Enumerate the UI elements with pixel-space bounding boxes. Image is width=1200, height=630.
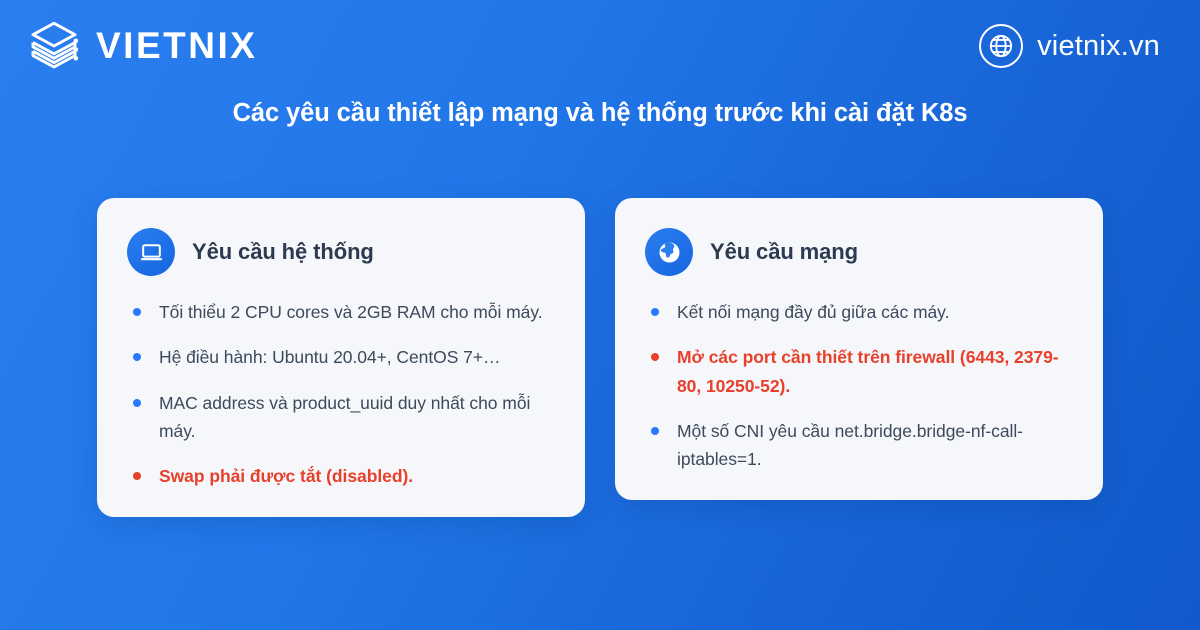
bullet-dot-icon xyxy=(133,308,141,316)
list-item-text: Swap phải được tắt (disabled). xyxy=(159,462,413,490)
card-title: Yêu cầu mạng xyxy=(710,239,858,265)
list-item: Kết nối mạng đầy đủ giữa các máy. xyxy=(645,298,1073,326)
bullet-dot-icon xyxy=(651,353,659,361)
card-network-requirements: Yêu cầu mạng Kết nối mạng đầy đủ giữa cá… xyxy=(615,198,1103,500)
list-item-text: Tối thiểu 2 CPU cores và 2GB RAM cho mỗi… xyxy=(159,298,543,326)
globe-earth-icon xyxy=(645,228,693,276)
list-item: Hệ điều hành: Ubuntu 20.04+, CentOS 7+… xyxy=(127,343,555,371)
list-item-text: MAC address và product_uuid duy nhất cho… xyxy=(159,389,555,446)
list-item-text: Kết nối mạng đầy đủ giữa các máy. xyxy=(677,298,949,326)
card-title: Yêu cầu hệ thống xyxy=(192,239,374,265)
card-header: Yêu cầu mạng xyxy=(645,228,1073,276)
card-header: Yêu cầu hệ thống xyxy=(127,228,555,276)
list-item-text: Hệ điều hành: Ubuntu 20.04+, CentOS 7+… xyxy=(159,343,500,371)
bullet-dot-icon xyxy=(651,308,659,316)
list-item-text: Một số CNI yêu cầu net.bridge.bridge-nf-… xyxy=(677,417,1073,474)
list-item-text: Mở các port cần thiết trên firewall (644… xyxy=(677,343,1073,400)
list-item: Tối thiểu 2 CPU cores và 2GB RAM cho mỗi… xyxy=(127,298,555,326)
list-item: MAC address và product_uuid duy nhất cho… xyxy=(127,389,555,446)
laptop-icon xyxy=(127,228,175,276)
requirements-list: Tối thiểu 2 CPU cores và 2GB RAM cho mỗi… xyxy=(127,298,555,491)
list-item: Một số CNI yêu cầu net.bridge.bridge-nf-… xyxy=(645,417,1073,474)
card-system-requirements: Yêu cầu hệ thống Tối thiểu 2 CPU cores v… xyxy=(97,198,585,517)
site-url-text: vietnix.vn xyxy=(1037,30,1160,63)
stacked-layers-logo-icon xyxy=(26,18,82,74)
list-item-highlighted: Mở các port cần thiết trên firewall (644… xyxy=(645,343,1073,400)
site-url-lockup: vietnix.vn xyxy=(979,24,1160,68)
list-item-highlighted: Swap phải được tắt (disabled). xyxy=(127,462,555,490)
brand-lockup: VIETNIX xyxy=(26,18,257,74)
requirements-list: Kết nối mạng đầy đủ giữa các máy. Mở các… xyxy=(645,298,1073,474)
cards-container: Yêu cầu hệ thống Tối thiểu 2 CPU cores v… xyxy=(97,198,1103,517)
brand-name: VIETNIX xyxy=(96,25,257,67)
bullet-dot-icon xyxy=(133,353,141,361)
bullet-dot-icon xyxy=(133,472,141,480)
page-title: Các yêu cầu thiết lập mạng và hệ thống t… xyxy=(0,99,1200,128)
bullet-dot-icon xyxy=(651,427,659,435)
globe-icon xyxy=(979,24,1023,68)
page-header: VIETNIX vietnix.vn xyxy=(0,0,1200,92)
bullet-dot-icon xyxy=(133,399,141,407)
